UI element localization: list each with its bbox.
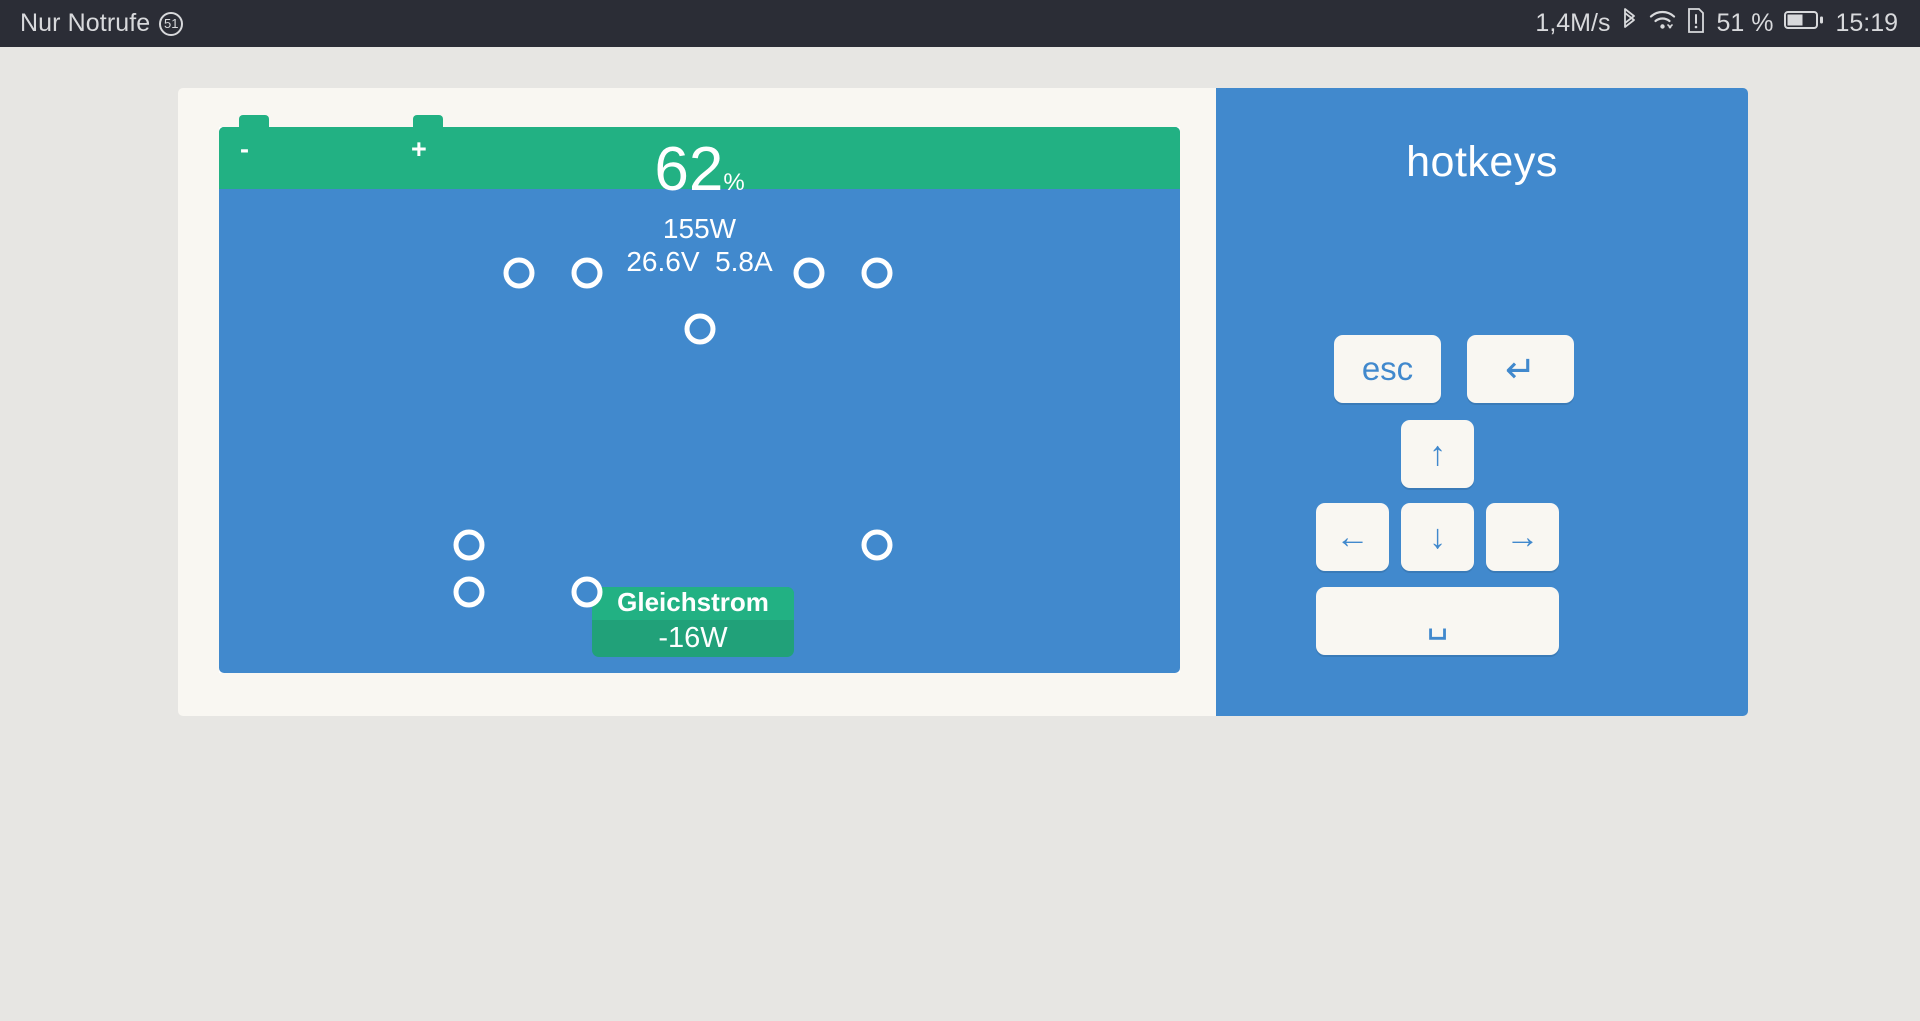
battery-voltage-current: 26.6V 5.8A [219,246,1180,278]
status-bar-right: 1,4M/s 51 % 1 [1535,7,1898,40]
hotkeys-title: hotkeys [1216,88,1748,187]
battery-soc: 62% [219,139,1180,201]
battery-power-value: 155W [219,213,1180,245]
bluetooth-icon [1621,7,1638,40]
android-status-bar: Nur Notrufe 51 1,4M/s 51 % [0,0,1920,47]
sim-badge: 51 [159,12,183,36]
hotkey-arrow-right[interactable]: → [1486,503,1559,571]
carrier-label: Nur Notrufe [20,9,150,38]
dc-loads-title: Gleichstrom [592,587,794,620]
hotkey-enter[interactable]: ↵ [1467,335,1574,403]
sim-alert-icon [1687,8,1705,40]
battery-icon [1784,9,1824,38]
battery-current-value: 5.8A [715,246,773,277]
victron-overview-panel: -- Inverting [178,88,1216,716]
status-bar-left: Nur Notrufe 51 [20,9,183,38]
hotkey-space[interactable]: ␣ [1316,587,1559,655]
battery-percent-label: 51 % [1716,9,1773,38]
energy-flow-diagram[interactable]: -- Inverting [219,127,1180,673]
hotkeys-panel: hotkeys esc ↵ ↑ ← ↓ → ␣ [1216,88,1748,716]
battery-soc-unit: % [723,169,744,196]
hotkey-arrow-up[interactable]: ↑ [1401,420,1474,488]
network-speed-label: 1,4M/s [1535,9,1610,38]
wifi-icon [1649,9,1676,38]
clock-label: 15:19 [1835,9,1898,38]
battery-card[interactable]: - + 62% 155W 26.6V 5.8A [219,127,471,287]
battery-soc-value: 62 [654,135,723,204]
battery-voltage-value: 26.6V [626,246,699,277]
hotkey-arrow-down[interactable]: ↓ [1401,503,1474,571]
app-window: -- Inverting [178,88,1748,716]
dc-loads-value: -16W [592,622,794,655]
hotkey-arrow-left[interactable]: ← [1316,503,1389,571]
hotkey-esc[interactable]: esc [1334,335,1441,403]
dc-loads-card[interactable]: Gleichstrom -16W [592,587,794,657]
